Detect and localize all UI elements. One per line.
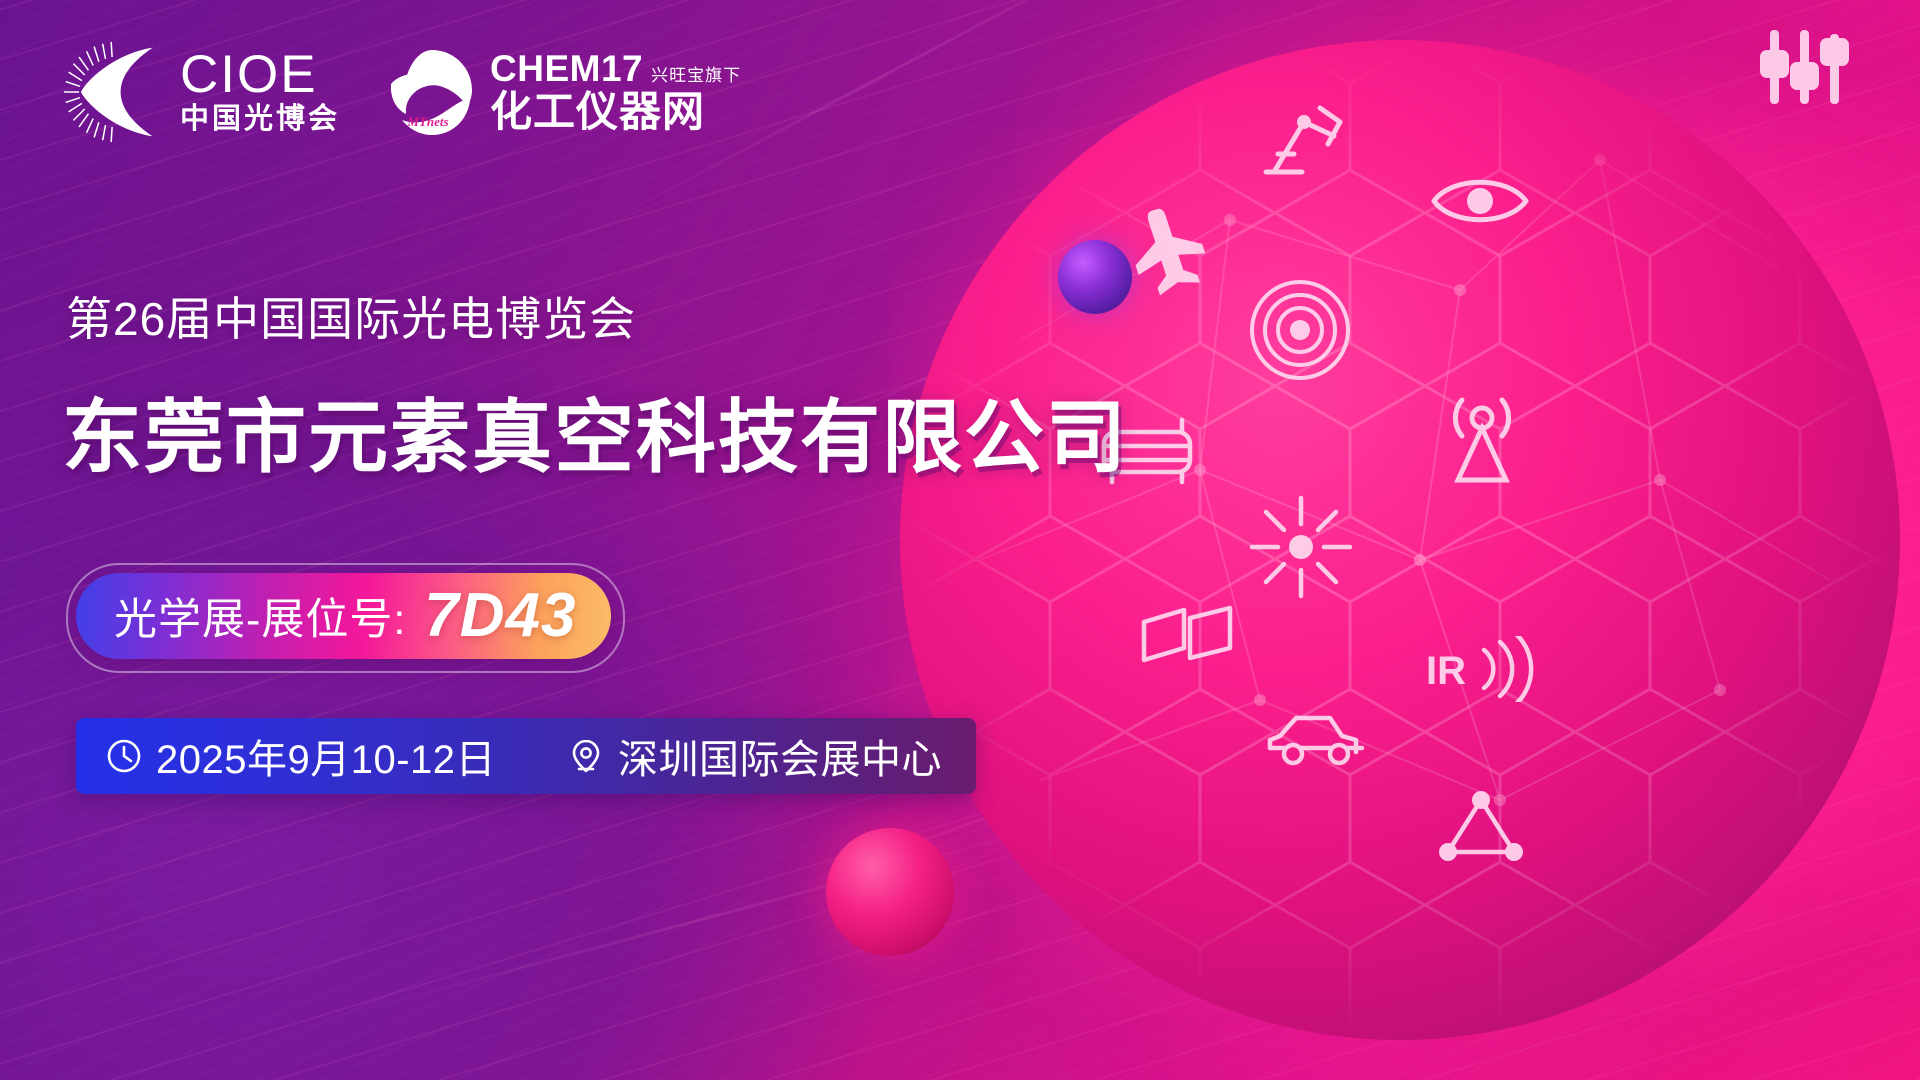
location-pin-icon	[568, 738, 604, 774]
cioe-logo[interactable]: CIOE 中国光博会	[62, 40, 340, 144]
light-beam	[315, 789, 1185, 1025]
cioe-wordmark: CIOE 中国光博会	[180, 50, 340, 133]
date-info: 2025年9月10-12日	[106, 727, 496, 785]
chem17-sub-label: 兴旺宝旗下	[651, 67, 741, 87]
cioe-english-label: CIOE	[180, 50, 340, 100]
diagonal-streaks-layer-2	[0, 0, 1920, 1080]
signal-tower-icon	[1432, 386, 1532, 486]
date-text: 2025年9月10-12日	[156, 727, 496, 785]
ir-waves-icon: IR	[1426, 636, 1538, 702]
cioe-chinese-label: 中国光博会	[180, 105, 340, 134]
hexagon-mesh	[900, 40, 1900, 1040]
sliders-icon	[1756, 28, 1852, 110]
sphere-arc-ring	[820, 0, 1920, 1080]
share-nodes-icon	[1438, 790, 1524, 864]
clock-icon	[106, 738, 142, 774]
sphere-arc-ring	[840, 10, 1920, 1080]
booth-label: 光学展-展位号:	[114, 585, 406, 647]
orb-large-pink	[826, 828, 954, 956]
booth-badge[interactable]: 光学展-展位号: 7D43	[76, 573, 611, 659]
chem17-english-label: CHEM17	[490, 50, 643, 87]
event-subtitle: 第26届中国国际光电博览会	[66, 283, 636, 349]
date-venue-bar: 2025年9月10-12日 深圳国际会展中心	[76, 718, 976, 794]
diagonal-streaks-layer	[0, 0, 1920, 1080]
display-panels-icon	[1140, 604, 1234, 666]
venue-info: 深圳国际会展中心	[568, 727, 942, 785]
cioe-fan-mark	[62, 40, 166, 144]
lens-target-icon	[1248, 278, 1352, 382]
chem17-globe-mark: MTnets	[382, 44, 478, 140]
sphere-core	[900, 40, 1900, 1040]
booth-number: 7D43	[424, 585, 576, 647]
robot-arm-icon	[1258, 92, 1350, 180]
chem17-wordmark: CHEM17 兴旺宝旗下 化工仪器网	[490, 50, 741, 135]
exhibition-banner: IR	[0, 0, 1920, 1080]
svg-text:IR: IR	[1426, 649, 1466, 693]
chem17-mark-text: MTnets	[406, 114, 448, 129]
laser-burst-icon	[1248, 494, 1354, 600]
eye-icon	[1430, 170, 1530, 232]
car-icon	[1262, 706, 1368, 770]
logo-row: CIOE 中国光博会 MTnets CHEM17 兴旺宝旗	[62, 40, 741, 144]
chem17-logo[interactable]: MTnets CHEM17 兴旺宝旗下 化工仪器网	[382, 44, 741, 140]
chem17-chinese-label: 化工仪器网	[490, 90, 741, 135]
airplane-icon	[1126, 206, 1208, 292]
venue-text: 深圳国际会展中心	[618, 727, 942, 785]
sphere-arc-ring	[858, 28, 1920, 1080]
sphere-arc-fan	[810, 0, 1920, 1080]
company-name: 东莞市元素真空科技有限公司	[62, 398, 1128, 478]
orb-small-purple	[1058, 240, 1132, 314]
